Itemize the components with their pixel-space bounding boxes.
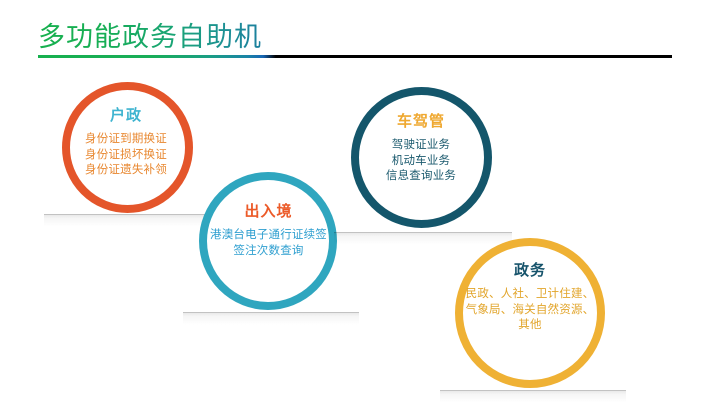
bubble-line: 身份证损坏换证 bbox=[55, 147, 197, 163]
bubble-lines-chejiaguan: 驾驶证业务 机动车业务 信息查询业务 bbox=[345, 137, 497, 184]
bubble-line: 民政、人社、卫计住建、 bbox=[450, 286, 610, 302]
bubble-lines-churujing: 港澳台电子通行证续签 签注次数查询 bbox=[194, 227, 343, 258]
bubble-chejiaguan[interactable]: 车驾管 驾驶证业务 机动车业务 信息查询业务 bbox=[345, 82, 497, 235]
bubble-content-zhengwu: 政务 民政、人社、卫计住建、 气象局、海关自然资源、 其他 bbox=[450, 261, 610, 333]
bubble-heading-chejiaguan: 车驾管 bbox=[345, 112, 497, 131]
bubble-line: 身份证到期换证 bbox=[55, 131, 197, 147]
bubble-content-huzheng: 户政 身份证到期换证 身份证损坏换证 身份证遗失补领 bbox=[55, 106, 197, 178]
bubble-line: 港澳台电子通行证续签 bbox=[194, 227, 343, 243]
bubble-zhengwu[interactable]: 政务 民政、人社、卫计住建、 气象局、海关自然资源、 其他 bbox=[450, 233, 610, 393]
bubble-lines-zhengwu: 民政、人社、卫计住建、 气象局、海关自然资源、 其他 bbox=[450, 286, 610, 333]
page-title: 多功能政务自助机 bbox=[38, 22, 262, 54]
bubble-line: 驾驶证业务 bbox=[345, 137, 497, 153]
bubble-churujing[interactable]: 出入境 港澳台电子通行证续签 签注次数查询 bbox=[194, 167, 343, 315]
bubble-line: 气象局、海关自然资源、 bbox=[450, 302, 610, 318]
slide-title-block: 多功能政务自助机 bbox=[38, 22, 678, 62]
bubble-lines-huzheng: 身份证到期换证 身份证损坏换证 身份证遗失补领 bbox=[55, 131, 197, 178]
bubble-line: 机动车业务 bbox=[345, 153, 497, 169]
bubble-content-churujing: 出入境 港澳台电子通行证续签 签注次数查询 bbox=[194, 202, 343, 258]
bubble-heading-huzheng: 户政 bbox=[55, 106, 197, 125]
bubble-line: 信息查询业务 bbox=[345, 168, 497, 184]
bubble-line: 其他 bbox=[450, 317, 610, 333]
title-underline-rule bbox=[38, 55, 672, 58]
bubble-line: 签注次数查询 bbox=[194, 243, 343, 259]
bubble-huzheng[interactable]: 户政 身份证到期换证 身份证损坏换证 身份证遗失补领 bbox=[55, 76, 197, 217]
bubble-line: 身份证遗失补领 bbox=[55, 162, 197, 178]
bubble-content-chejiaguan: 车驾管 驾驶证业务 机动车业务 信息查询业务 bbox=[345, 112, 497, 184]
bubble-heading-zhengwu: 政务 bbox=[450, 261, 610, 280]
slide-canvas: 多功能政务自助机 户政 身份证到期换证 身份证损坏换证 身份证遗失补领 出入境 … bbox=[0, 0, 711, 402]
bubble-heading-churujing: 出入境 bbox=[194, 202, 343, 221]
